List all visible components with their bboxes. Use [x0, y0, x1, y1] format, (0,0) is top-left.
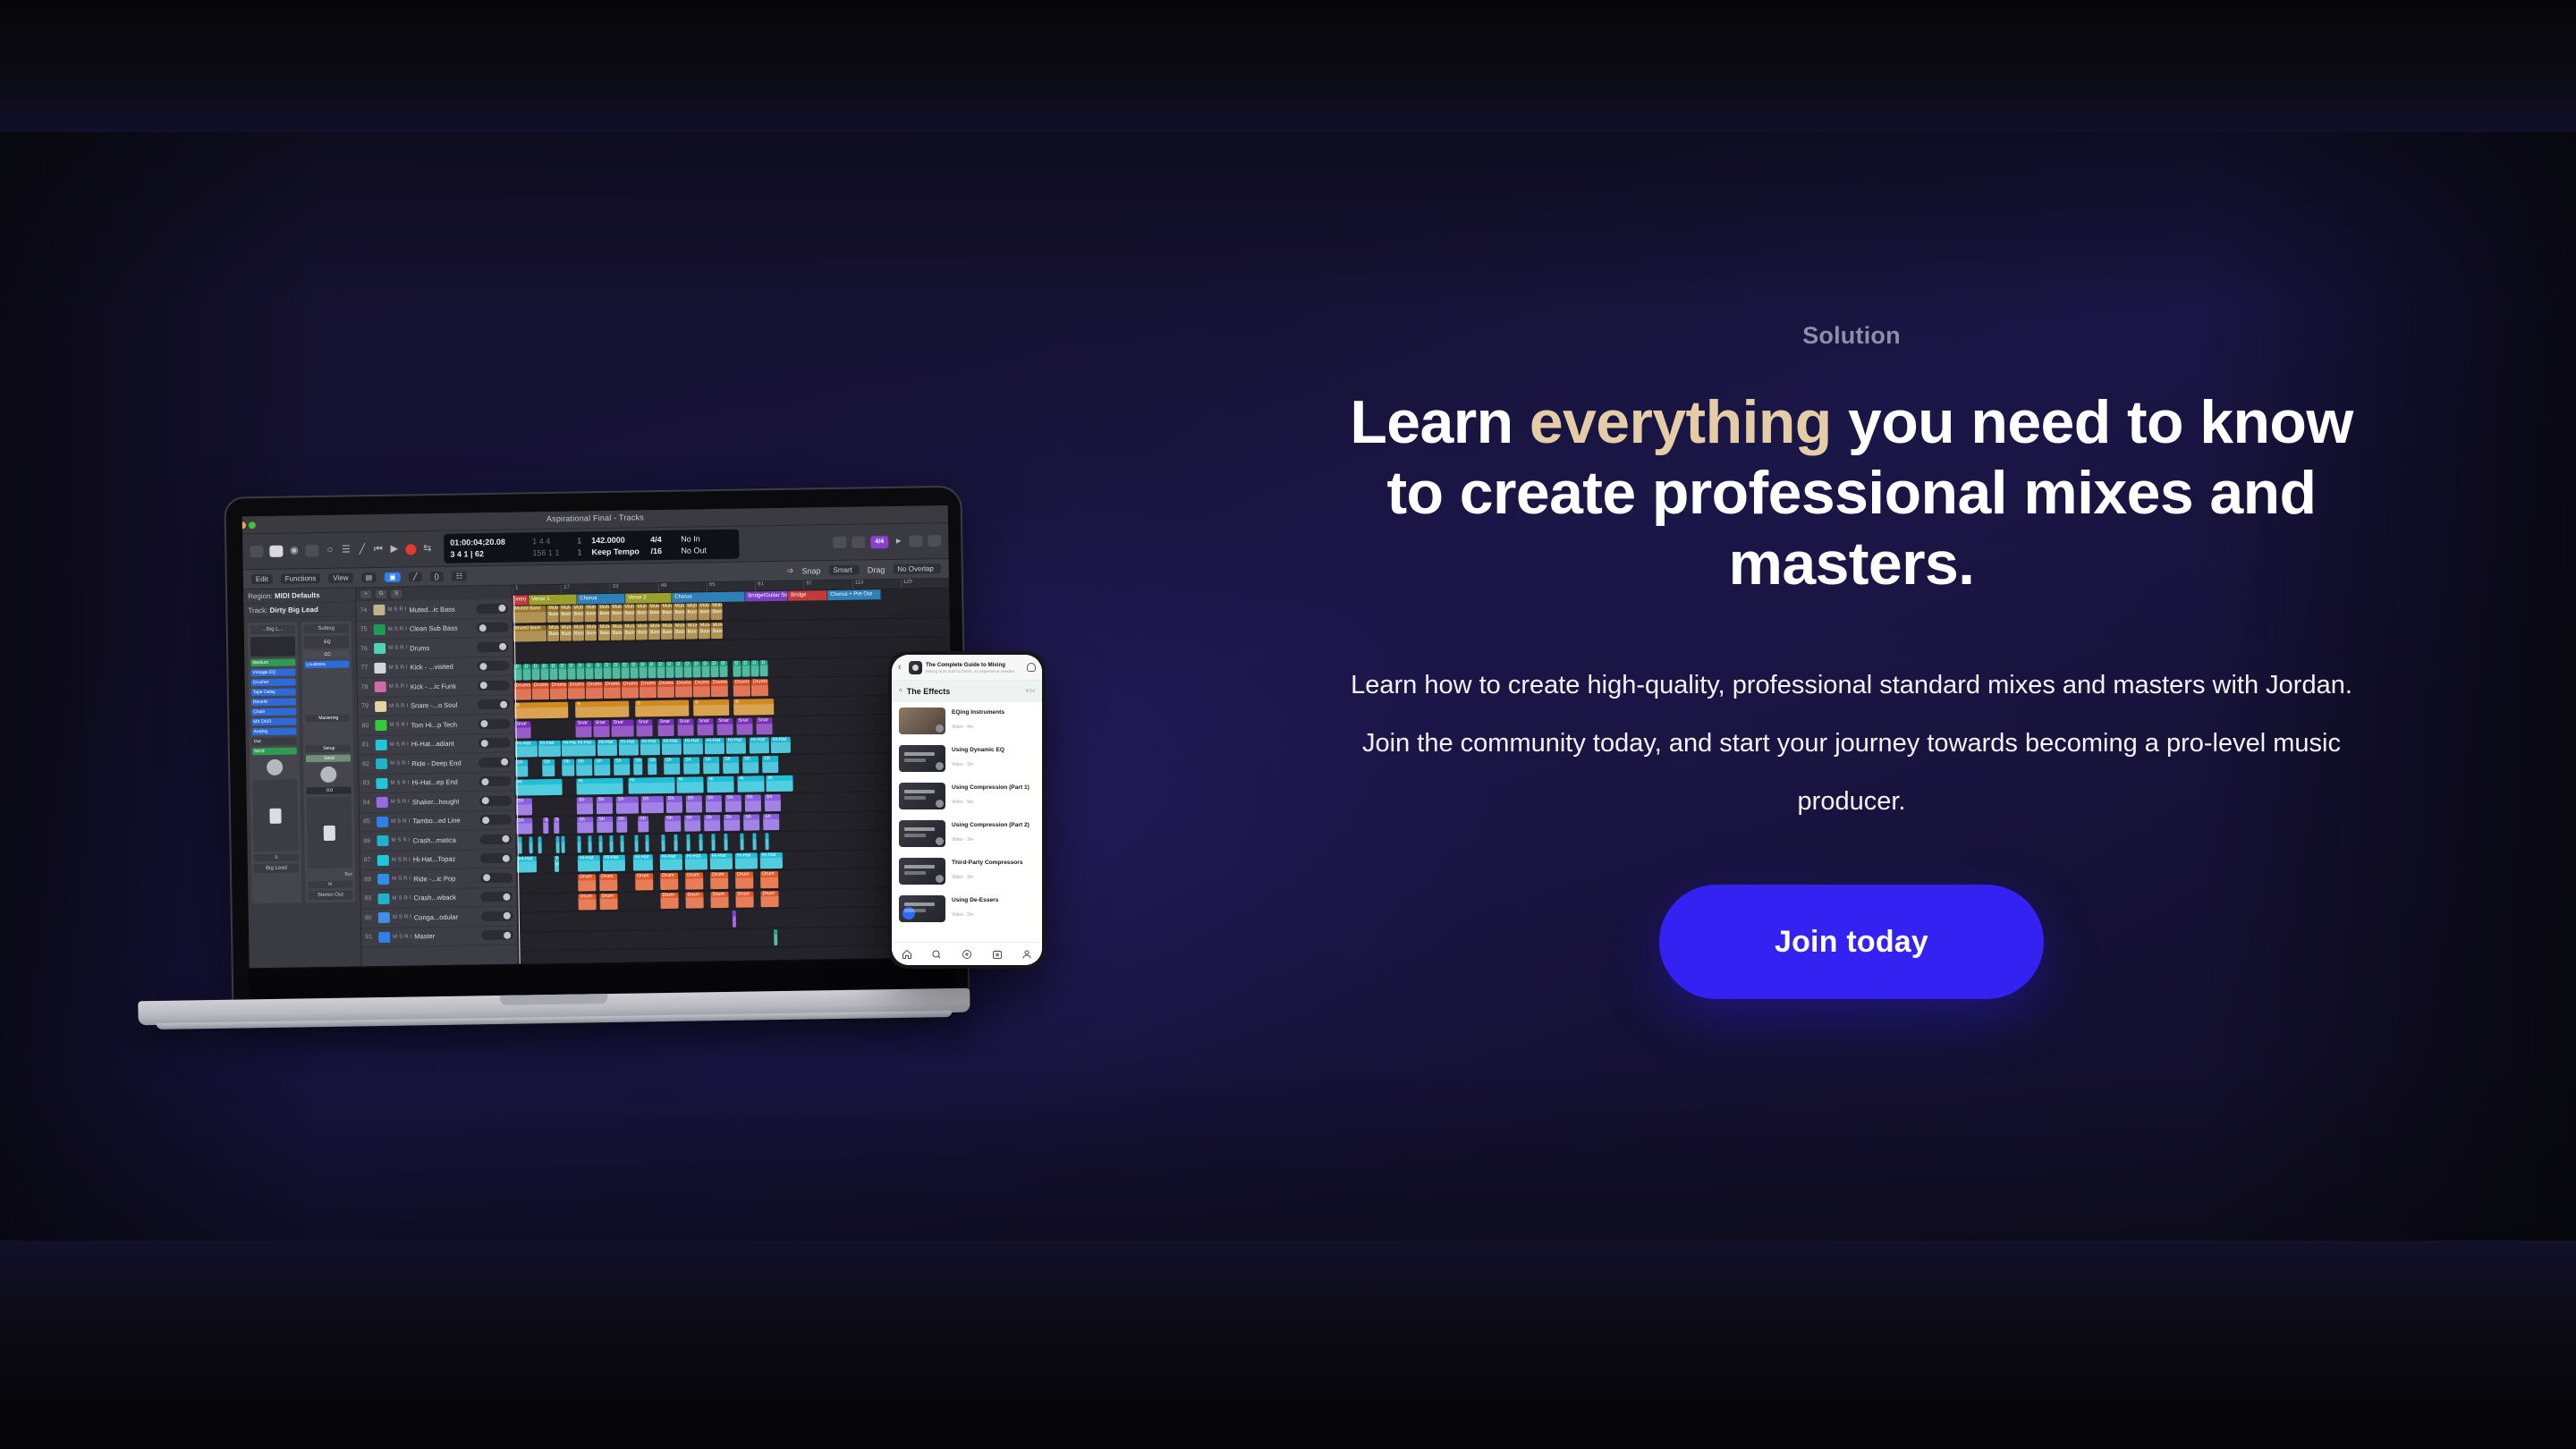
audio-region[interactable]: Hi-Hat: [633, 854, 653, 871]
audio-region[interactable]: Drum: [735, 871, 753, 888]
track-row[interactable]: 74MSRIMuted...ic Bass: [356, 599, 512, 621]
track-input-button[interactable]: I: [409, 857, 411, 862]
track-record-button[interactable]: R: [404, 915, 408, 920]
audio-region[interactable]: S: [693, 699, 729, 716]
track-mute-button[interactable]: M: [391, 800, 395, 805]
audio-region[interactable]: Drums: [514, 682, 531, 699]
track-name[interactable]: Kick - ...visited: [410, 663, 474, 672]
track-volume-slider[interactable]: [480, 853, 513, 864]
track-group-button[interactable]: G: [376, 590, 386, 598]
lesson-item[interactable]: Using Compression (Part 2)Video · 3m: [892, 815, 1042, 852]
arrangement-marker[interactable]: Verse 2: [625, 593, 672, 604]
strip-a-plugin-6[interactable]: MX DUO: [251, 717, 296, 725]
strip-a-eq-display[interactable]: [250, 636, 295, 657]
track-record-button[interactable]: R: [403, 877, 407, 882]
audio-region[interactable]: [765, 833, 768, 850]
track-input-button[interactable]: I: [405, 646, 407, 651]
audio-region[interactable]: Snar: [575, 720, 591, 737]
audio-region[interactable]: Drum: [685, 892, 703, 909]
strip-a-fader[interactable]: [252, 779, 298, 852]
audio-region[interactable]: Drum: [760, 871, 778, 888]
audio-region[interactable]: Hi: [628, 776, 674, 793]
track-input-button[interactable]: I: [409, 877, 411, 882]
toolbar-listeditors-icon[interactable]: [833, 537, 846, 548]
transport-cycle-icon[interactable]: ⇆: [422, 544, 432, 554]
profile-icon[interactable]: [1021, 949, 1032, 960]
audio-region[interactable]: Drum: [660, 873, 678, 890]
track-record-button[interactable]: R: [402, 741, 405, 747]
strip-b-eq-label[interactable]: EQ: [304, 636, 349, 649]
track-input-button[interactable]: I: [405, 626, 407, 631]
track-input-button[interactable]: I: [407, 723, 409, 728]
audio-region[interactable]: [518, 837, 521, 854]
track-msri-buttons[interactable]: MSRI: [393, 934, 411, 939]
track-solo-button[interactable]: S: [398, 877, 402, 882]
audio-region[interactable]: Sh: [594, 758, 610, 775]
audio-region[interactable]: Muted Bass: [699, 623, 710, 640]
track-solo-button[interactable]: S: [396, 741, 400, 747]
track-solo-button[interactable]: S: [399, 934, 402, 939]
track-solo-button[interactable]: S: [395, 723, 399, 728]
audio-region[interactable]: Snar: [736, 717, 752, 734]
audio-region[interactable]: D: [540, 664, 548, 681]
audio-region[interactable]: D: [733, 660, 741, 677]
toolbar-quickhelp-icon[interactable]: ◉: [289, 546, 299, 555]
track-mute-button[interactable]: M: [387, 607, 392, 613]
track-record-button[interactable]: R: [404, 934, 408, 939]
audio-region[interactable]: Snar: [697, 718, 713, 735]
audio-region[interactable]: Muted Bass: [598, 623, 610, 640]
toolbar-smartcontrols-icon[interactable]: ○: [325, 546, 335, 555]
audio-region[interactable]: Hi-Hat: [760, 852, 783, 869]
audio-region[interactable]: Sh: [762, 756, 778, 773]
audio-region[interactable]: Drum: [599, 893, 617, 910]
track-input-button[interactable]: I: [408, 780, 410, 785]
audio-region[interactable]: [711, 834, 715, 851]
audio-region[interactable]: Drums: [532, 682, 549, 699]
audio-region[interactable]: Drums: [693, 680, 710, 697]
track-name[interactable]: Kick - ...ic Funk: [411, 682, 475, 691]
audio-region[interactable]: Hi: [515, 778, 562, 795]
audio-region[interactable]: Hi-Hat: [771, 736, 791, 753]
subbar-edit-menu[interactable]: Edit: [251, 574, 273, 584]
audio-region[interactable]: [774, 929, 777, 946]
track-msri-buttons[interactable]: MSRI: [388, 626, 407, 631]
strip-a-plugin-3[interactable]: Tape Delay: [251, 688, 296, 696]
audio-region[interactable]: Muted Bass: [572, 624, 584, 641]
track-row[interactable]: 76MSRIDrums: [357, 638, 513, 659]
track-name[interactable]: Conga...odular: [414, 912, 479, 921]
audio-region[interactable]: Muted Bass: [711, 622, 723, 639]
track-row[interactable]: 81MSRIHi-Hat...adiant: [359, 733, 514, 755]
audio-region[interactable]: D: [750, 660, 758, 677]
audio-region[interactable]: D: [612, 662, 620, 679]
toolbar-masterfx-icon[interactable]: ▸: [894, 537, 903, 547]
audio-region[interactable]: Drums: [751, 679, 768, 696]
audio-region[interactable]: Muted Bass: [572, 605, 583, 622]
track-msri-buttons[interactable]: MSRI: [392, 857, 411, 862]
track-volume-slider[interactable]: [479, 795, 512, 806]
strip-b-setup[interactable]: Setup: [306, 745, 351, 753]
subbar-automation-toggle[interactable]: ▣: [385, 572, 401, 582]
strip-b-pan-knob[interactable]: [320, 767, 336, 783]
audio-region[interactable]: Hi-Hat: [710, 852, 733, 869]
daw-lcd-display[interactable]: 01:00:04;20.08 1 4 4 1 142.0000 4/4 No I…: [444, 530, 739, 563]
audio-region[interactable]: Hi-Hat: [517, 856, 537, 873]
audio-region[interactable]: [529, 836, 532, 853]
audio-region[interactable]: D: [710, 661, 718, 678]
audio-region[interactable]: Sh: [554, 817, 559, 834]
audio-region[interactable]: D: [648, 662, 656, 679]
track-mute-button[interactable]: M: [392, 895, 396, 901]
toolbar-library-icon[interactable]: [250, 546, 263, 557]
track-mute-button[interactable]: M: [391, 818, 395, 824]
track-volume-slider[interactable]: [479, 834, 512, 844]
track-name[interactable]: Tom Hi...p Tech: [411, 720, 475, 729]
track-mute-button[interactable]: M: [392, 857, 396, 862]
audio-region[interactable]: D: [621, 662, 629, 679]
audio-region[interactable]: Muted Bass: [648, 604, 659, 621]
audio-region[interactable]: [686, 835, 690, 852]
audio-region[interactable]: Sh: [576, 758, 592, 775]
track-solo-button[interactable]: S: [398, 857, 402, 862]
track-instrument-icon[interactable]: [377, 797, 388, 808]
track-row[interactable]: 78MSRIKick - ...ic Funk: [358, 676, 513, 698]
track-name[interactable]: Snare -...o Soul: [411, 701, 475, 710]
audio-region[interactable]: Muted Bass: [513, 625, 547, 642]
channel-strip-track[interactable]: ...Big L... Medium Vintage EQ Crusher Ta…: [248, 622, 302, 903]
track-instrument-icon[interactable]: [375, 720, 386, 731]
track-instrument-icon[interactable]: [374, 663, 386, 674]
audio-region[interactable]: D: [719, 660, 727, 677]
audio-region[interactable]: [634, 835, 638, 852]
strip-a-bus[interactable]: Out: [252, 737, 297, 745]
track-record-button[interactable]: R: [400, 646, 403, 651]
audio-region[interactable]: [620, 835, 623, 852]
track-solo-button[interactable]: S: [396, 761, 400, 767]
lesson-item[interactable]: Using Dynamic EQVideo · 3m: [892, 740, 1042, 777]
track-solo-button[interactable]: S: [391, 590, 402, 598]
track-name[interactable]: Hi-Hat...Topaz: [413, 855, 478, 864]
audio-region[interactable]: Drums: [640, 681, 657, 698]
strip-a-plugin-2[interactable]: Crusher: [251, 678, 296, 686]
track-instrument-icon[interactable]: [373, 605, 385, 615]
audio-region[interactable]: Muted Bass: [547, 606, 558, 623]
audio-region[interactable]: D: [531, 664, 539, 681]
track-instrument-icon[interactable]: [376, 778, 387, 789]
subbar-drag-value[interactable]: No Overlap: [893, 563, 941, 574]
track-name[interactable]: Hi-Hat...adiant: [411, 740, 476, 749]
audio-region[interactable]: Muted Bass: [710, 603, 722, 620]
toolbar-toolbar-icon[interactable]: [305, 545, 318, 556]
track-solo-button[interactable]: S: [394, 665, 398, 670]
subbar-view-menu[interactable]: View: [328, 572, 352, 582]
audio-region[interactable]: [561, 836, 564, 853]
track-input-button[interactable]: I: [406, 665, 408, 670]
audio-region[interactable]: Muted Bass: [660, 604, 672, 621]
track-record-button[interactable]: R: [402, 838, 406, 843]
audio-region[interactable]: Sh: [516, 798, 532, 815]
chevron-left-icon[interactable]: ‹: [898, 662, 905, 673]
track-input-button[interactable]: I: [405, 607, 407, 613]
track-input-button[interactable]: I: [410, 934, 411, 939]
audio-region[interactable]: D: [594, 663, 602, 680]
track-name[interactable]: Crash...matica: [412, 835, 477, 844]
track-record-button[interactable]: R: [400, 626, 403, 631]
audio-region[interactable]: Muted Bass: [623, 623, 635, 640]
track-row[interactable]: 82MSRIRide - Deep End: [359, 753, 514, 775]
add-track-button[interactable]: +: [360, 590, 371, 598]
track-instrument-icon[interactable]: [378, 912, 390, 923]
track-instrument-icon[interactable]: [378, 932, 390, 943]
strip-b-send[interactable]: Send: [306, 755, 351, 763]
chevron-up-icon[interactable]: ^: [899, 688, 902, 696]
track-row[interactable]: 91MSRIMaster: [361, 926, 517, 947]
audio-region[interactable]: Sh: [633, 758, 642, 775]
strip-a-solo-button[interactable]: S: [254, 853, 299, 861]
audio-region[interactable]: Muted Bass: [685, 603, 697, 620]
audio-region[interactable]: Sh: [765, 794, 781, 811]
audio-region[interactable]: Sh: [648, 758, 657, 775]
track-solo-button[interactable]: S: [396, 780, 400, 785]
strip-b-value[interactable]: 0.0: [307, 786, 352, 794]
audio-region[interactable]: Drum: [710, 891, 728, 908]
track-input-button[interactable]: I: [408, 800, 410, 805]
track-input-button[interactable]: I: [410, 895, 411, 901]
audio-region[interactable]: Hi-Hat: [735, 852, 758, 869]
track-name[interactable]: Ride - Deep End: [411, 758, 476, 767]
track-row[interactable]: 85MSRITambo...ed Line: [360, 810, 515, 832]
audio-region[interactable]: [609, 835, 613, 852]
audio-region[interactable]: Sh: [666, 796, 682, 813]
track-instrument-icon[interactable]: [376, 758, 387, 769]
track-solo-button[interactable]: S: [399, 915, 402, 920]
track-record-button[interactable]: R: [403, 895, 407, 901]
audio-region[interactable]: Sh: [577, 817, 593, 834]
audio-region[interactable]: Sh: [641, 796, 664, 813]
audio-region[interactable]: D: [558, 663, 566, 680]
audio-region[interactable]: Snar: [636, 719, 652, 736]
audio-region[interactable]: D: [692, 661, 700, 678]
audio-region[interactable]: D: [585, 663, 593, 680]
track-solo-button[interactable]: S: [397, 800, 401, 805]
strip-a-plugin-4[interactable]: Reverb: [251, 698, 296, 706]
track-instrument-icon[interactable]: [374, 643, 386, 654]
subbar-pointer-icon[interactable]: ➩: [787, 566, 794, 576]
track-record-button[interactable]: R: [401, 703, 404, 708]
track-row[interactable]: 89MSRICrash...wback: [360, 887, 516, 909]
track-instrument-icon[interactable]: [374, 624, 386, 635]
audio-region[interactable]: Sh: [638, 816, 648, 833]
home-icon[interactable]: [902, 949, 912, 960]
strip-b-slot[interactable]: CC: [304, 651, 349, 659]
track-name[interactable]: Clean Sub Bass: [410, 624, 474, 633]
toolbar-inspector-icon[interactable]: [269, 546, 283, 557]
audio-region[interactable]: [674, 835, 677, 852]
audio-region[interactable]: Muted Bass: [661, 623, 673, 640]
track-solo-button[interactable]: S: [395, 684, 399, 690]
track-row[interactable]: 87MSRIHi-Hat...Topaz: [360, 849, 516, 870]
audio-region[interactable]: Drum: [599, 874, 617, 891]
track-input-button[interactable]: I: [406, 703, 408, 708]
audio-region[interactable]: D: [759, 660, 767, 677]
track-row[interactable]: 80MSRITom Hi...p Tech: [358, 715, 513, 736]
track-name[interactable]: Master: [414, 932, 479, 941]
track-record-button[interactable]: R: [401, 684, 404, 690]
transport-record-button[interactable]: [405, 544, 416, 555]
track-volume-slider[interactable]: [479, 757, 511, 767]
transport-rewind-icon[interactable]: ⏮: [373, 545, 383, 555]
audio-region[interactable]: D: [630, 662, 638, 679]
toolbar-browser-icon[interactable]: [928, 535, 941, 547]
audio-region[interactable]: D: [603, 662, 611, 679]
track-volume-slider[interactable]: [479, 738, 511, 749]
audio-region[interactable]: Snar: [611, 720, 633, 737]
audio-region[interactable]: Hi-Hat: [555, 855, 559, 872]
audio-region[interactable]: Hi: [676, 776, 703, 793]
track-record-button[interactable]: R: [402, 800, 406, 805]
track-volume-slider[interactable]: [477, 623, 509, 633]
track-mute-button[interactable]: M: [393, 915, 397, 920]
track-volume-slider[interactable]: [478, 680, 510, 691]
toolbar-editor-icon[interactable]: ╱: [357, 545, 367, 555]
track-row[interactable]: 90MSRIConga...odular: [361, 907, 517, 928]
audio-region[interactable]: Drums: [550, 682, 567, 699]
track-input-button[interactable]: I: [408, 818, 410, 824]
audio-region[interactable]: [588, 835, 591, 852]
track-volume-slider[interactable]: [480, 892, 513, 902]
audio-region[interactable]: Drum: [760, 891, 778, 908]
track-mute-button[interactable]: M: [389, 723, 394, 728]
track-input-button[interactable]: I: [407, 741, 409, 747]
audio-region[interactable]: Sh: [616, 796, 639, 813]
track-mute-button[interactable]: M: [388, 665, 393, 670]
audio-region[interactable]: Muted Bass: [597, 605, 609, 622]
toolbar-loops-icon[interactable]: [909, 535, 922, 547]
audio-region[interactable]: S: [514, 701, 568, 718]
audio-region[interactable]: Muted Bass: [584, 605, 596, 622]
track-msri-buttons[interactable]: MSRI: [388, 646, 407, 651]
audio-region[interactable]: Sh: [577, 797, 593, 814]
track-msri-buttons[interactable]: MSRI: [390, 741, 409, 747]
toolbar-tuner-badge[interactable]: 4/4: [870, 536, 888, 548]
audio-region[interactable]: [752, 833, 756, 850]
audio-region[interactable]: Hi-Hat: [603, 854, 625, 871]
subbar-functions-menu[interactable]: Functions: [281, 573, 321, 584]
audio-region[interactable]: Sh: [745, 794, 761, 811]
audio-region[interactable]: D: [674, 661, 682, 678]
audio-region[interactable]: Sh: [664, 758, 680, 775]
arrangement-marker[interactable]: Bridge: [788, 590, 827, 601]
track-msri-buttons[interactable]: MSRI: [390, 780, 409, 785]
audio-region[interactable]: [661, 835, 665, 852]
track-mute-button[interactable]: M: [388, 627, 393, 632]
audio-region[interactable]: Muted Bass: [673, 604, 684, 621]
strip-a-plugin-5[interactable]: Chain: [251, 708, 296, 716]
track-mute-button[interactable]: M: [388, 646, 393, 651]
audio-region[interactable]: Drums: [586, 682, 603, 699]
audio-region[interactable]: Hi: [737, 775, 764, 792]
audio-region[interactable]: Snar: [593, 720, 609, 737]
audio-region[interactable]: Muted Bass: [698, 603, 709, 620]
track-instrument-icon[interactable]: [377, 855, 389, 866]
track-name[interactable]: Hi-Hat...ep End: [411, 778, 476, 787]
arrangement-marker[interactable]: Chorus: [577, 594, 625, 605]
audio-region[interactable]: Drum: [578, 874, 596, 891]
audio-region[interactable]: Drums: [733, 679, 750, 696]
strip-a-plugin-0[interactable]: Medium: [250, 658, 295, 666]
audio-region[interactable]: Drum: [735, 891, 753, 908]
track-input-button[interactable]: I: [407, 761, 409, 767]
audio-region[interactable]: Sh: [516, 818, 532, 835]
audio-region[interactable]: Sh: [562, 759, 574, 776]
audio-region[interactable]: S: [635, 699, 689, 716]
track-msri-buttons[interactable]: MSRI: [392, 877, 411, 882]
audio-region[interactable]: Muted Bass: [623, 604, 634, 621]
audio-region[interactable]: Hi-Hat: [640, 739, 660, 756]
audio-region[interactable]: Sh: [683, 757, 699, 774]
inspector-track-value[interactable]: Dirty Big Lead: [270, 606, 318, 614]
track-record-button[interactable]: R: [402, 780, 405, 785]
audio-region[interactable]: Drum: [660, 892, 678, 909]
track-msri-buttons[interactable]: MSRI: [389, 723, 408, 728]
transport-play-icon[interactable]: ▶: [389, 545, 399, 555]
track-msri-buttons[interactable]: MSRI: [389, 684, 408, 690]
audio-region[interactable]: D: [576, 663, 584, 680]
audio-region[interactable]: Drums: [711, 680, 728, 697]
strip-a-send[interactable]: Send: [252, 747, 297, 755]
track-mute-button[interactable]: M: [389, 684, 394, 690]
audio-region[interactable]: Hi-Hat: [726, 737, 746, 754]
audio-region[interactable]: Hi: [576, 777, 623, 794]
audio-region[interactable]: Sh: [742, 756, 758, 773]
arrangement-marker[interactable]: Bridge/Guitar So: [745, 591, 788, 602]
track-mute-button[interactable]: M: [391, 838, 395, 843]
lesson-item[interactable]: Using De-EssersVideo · 3m: [892, 890, 1042, 928]
audio-region[interactable]: D: [657, 661, 665, 678]
track-volume-slider[interactable]: [480, 872, 513, 883]
audio-region[interactable]: Sh: [616, 816, 627, 833]
channel-strip-output[interactable]: Subtxg EQ CC Loudness Mastering Setup Se…: [301, 621, 356, 902]
track-name[interactable]: Drums: [410, 643, 474, 652]
track-msri-buttons[interactable]: MSRI: [391, 838, 410, 843]
track-msri-buttons[interactable]: MSRI: [388, 665, 407, 670]
track-instrument-icon[interactable]: [376, 740, 387, 750]
audio-region[interactable]: Sh: [597, 797, 613, 814]
audio-region[interactable]: Drums: [622, 681, 639, 698]
track-msri-buttons[interactable]: MSRI: [393, 915, 411, 920]
audio-region[interactable]: Sh: [515, 759, 528, 776]
strip-b-fader[interactable]: [307, 796, 352, 869]
track-input-button[interactable]: I: [409, 838, 411, 843]
strip-a-plugin-7[interactable]: Analog: [251, 727, 296, 735]
strip-b-mute-button[interactable]: M: [308, 880, 352, 888]
audio-region[interactable]: Sh: [542, 759, 555, 776]
strip-a-plugin-1[interactable]: Vintage EQ: [250, 668, 295, 676]
audio-region[interactable]: Sh: [724, 814, 740, 831]
toolbar-mixer-icon[interactable]: ☰: [341, 545, 351, 555]
lesson-item[interactable]: Third-Party CompressorsVideo · 3m: [892, 852, 1042, 890]
audio-region[interactable]: Snar: [657, 719, 674, 736]
audio-region[interactable]: Drums: [675, 680, 692, 697]
subbar-flex-toggle[interactable]: ╱: [409, 572, 422, 581]
audio-region[interactable]: Hi: [766, 775, 792, 792]
subbar-link-toggle[interactable]: ☷: [452, 571, 467, 580]
arrangement-marker[interactable]: Verse 1: [529, 595, 577, 606]
audio-region[interactable]: Hi-Hat: [538, 740, 561, 757]
audio-region[interactable]: Hi-Hat: [750, 737, 769, 754]
audio-region[interactable]: Sh: [543, 818, 548, 835]
